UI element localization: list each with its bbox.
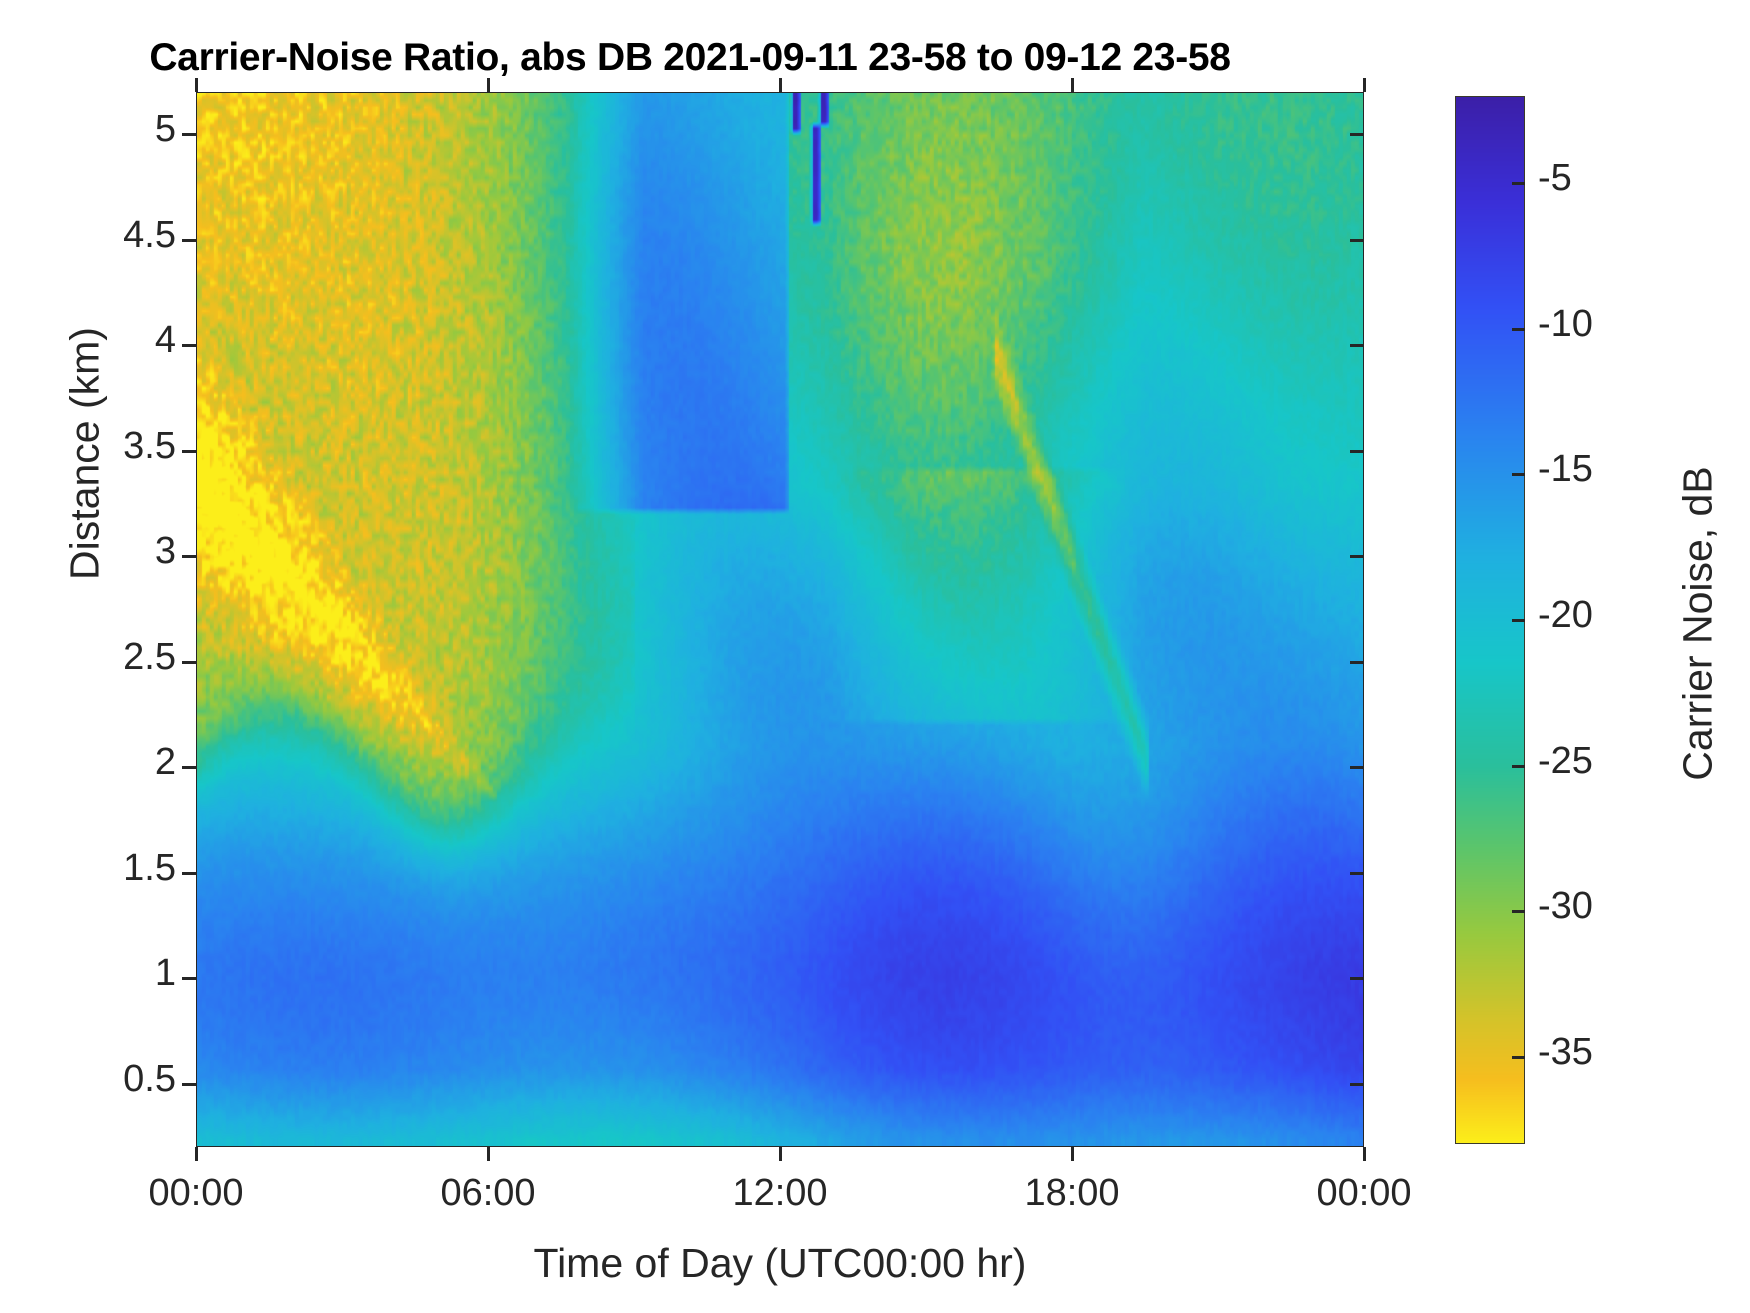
y-tick-mark-right — [1350, 977, 1364, 980]
colorbar-tick-label: -10 — [1538, 303, 1593, 346]
colorbar-tick-mark — [1512, 1056, 1525, 1059]
x-tick-mark-top — [487, 78, 490, 92]
y-tick-label: 0.5 — [123, 1058, 176, 1101]
colorbar-tick-mark — [1512, 765, 1525, 768]
colorbar-tick-label: -15 — [1538, 448, 1593, 491]
colorbar-tick-label: -5 — [1538, 157, 1572, 200]
y-tick-mark-right — [1350, 555, 1364, 558]
colorbar-tick-mark — [1512, 328, 1525, 331]
y-tick-mark-right — [1350, 239, 1364, 242]
x-tick-mark — [195, 1147, 198, 1161]
y-tick-label: 4.5 — [123, 214, 176, 257]
y-tick-mark-right — [1350, 450, 1364, 453]
colorbar-tick-mark — [1512, 182, 1525, 185]
y-tick-mark-right — [1350, 661, 1364, 664]
x-tick-label: 00:00 — [1316, 1172, 1411, 1215]
y-tick-mark-right — [1350, 766, 1364, 769]
page-title: Carrier-Noise Ratio, abs DB 2021-09-11 2… — [0, 36, 1380, 80]
y-tick-mark — [182, 133, 196, 136]
x-tick-mark-top — [1071, 78, 1074, 92]
x-tick-label: 00:00 — [148, 1172, 243, 1215]
x-tick-label: 12:00 — [732, 1172, 827, 1215]
x-axis-title: Time of Day (UTC00:00 hr) — [196, 1240, 1364, 1287]
y-tick-mark-right — [1350, 344, 1364, 347]
y-tick-mark-right — [1350, 872, 1364, 875]
y-tick-label: 3 — [155, 530, 176, 573]
x-tick-label: 18:00 — [1024, 1172, 1119, 1215]
y-tick-mark — [182, 555, 196, 558]
heatmap-plot-area — [196, 92, 1364, 1147]
y-tick-label: 1 — [155, 952, 176, 995]
y-tick-mark — [182, 872, 196, 875]
y-axis-title: Distance (km) — [62, 134, 109, 774]
colorbar-tick-mark — [1512, 910, 1525, 913]
y-tick-label: 4 — [155, 319, 176, 362]
y-tick-mark — [182, 661, 196, 664]
x-tick-mark — [779, 1147, 782, 1161]
heatmap-canvas — [197, 93, 1363, 1146]
y-tick-label: 3.5 — [123, 425, 176, 468]
y-tick-mark — [182, 1083, 196, 1086]
y-tick-mark — [182, 977, 196, 980]
x-tick-mark-top — [195, 78, 198, 92]
y-tick-mark-right — [1350, 133, 1364, 136]
y-tick-mark — [182, 239, 196, 242]
y-tick-label: 5 — [155, 108, 176, 151]
colorbar-tick-mark — [1512, 473, 1525, 476]
colorbar-title: Carrier Noise, dB — [1675, 324, 1722, 924]
y-tick-mark — [182, 344, 196, 347]
colorbar-tick-label: -25 — [1538, 740, 1593, 783]
x-tick-mark — [1363, 1147, 1366, 1161]
colorbar-tick-label: -20 — [1538, 594, 1593, 637]
x-tick-mark — [487, 1147, 490, 1161]
y-tick-label: 2.5 — [123, 636, 176, 679]
chart-figure: Carrier-Noise Ratio, abs DB 2021-09-11 2… — [0, 0, 1750, 1313]
colorbar-tick-mark — [1512, 619, 1525, 622]
x-tick-mark-top — [779, 78, 782, 92]
y-tick-mark — [182, 766, 196, 769]
x-tick-mark — [1071, 1147, 1074, 1161]
colorbar-tick-label: -30 — [1538, 885, 1593, 928]
y-tick-label: 1.5 — [123, 847, 176, 890]
x-tick-mark-top — [1363, 78, 1366, 92]
y-tick-label: 2 — [155, 741, 176, 784]
y-tick-mark-right — [1350, 1083, 1364, 1086]
y-tick-mark — [182, 450, 196, 453]
x-tick-label: 06:00 — [440, 1172, 535, 1215]
colorbar-tick-label: -35 — [1538, 1031, 1593, 1074]
